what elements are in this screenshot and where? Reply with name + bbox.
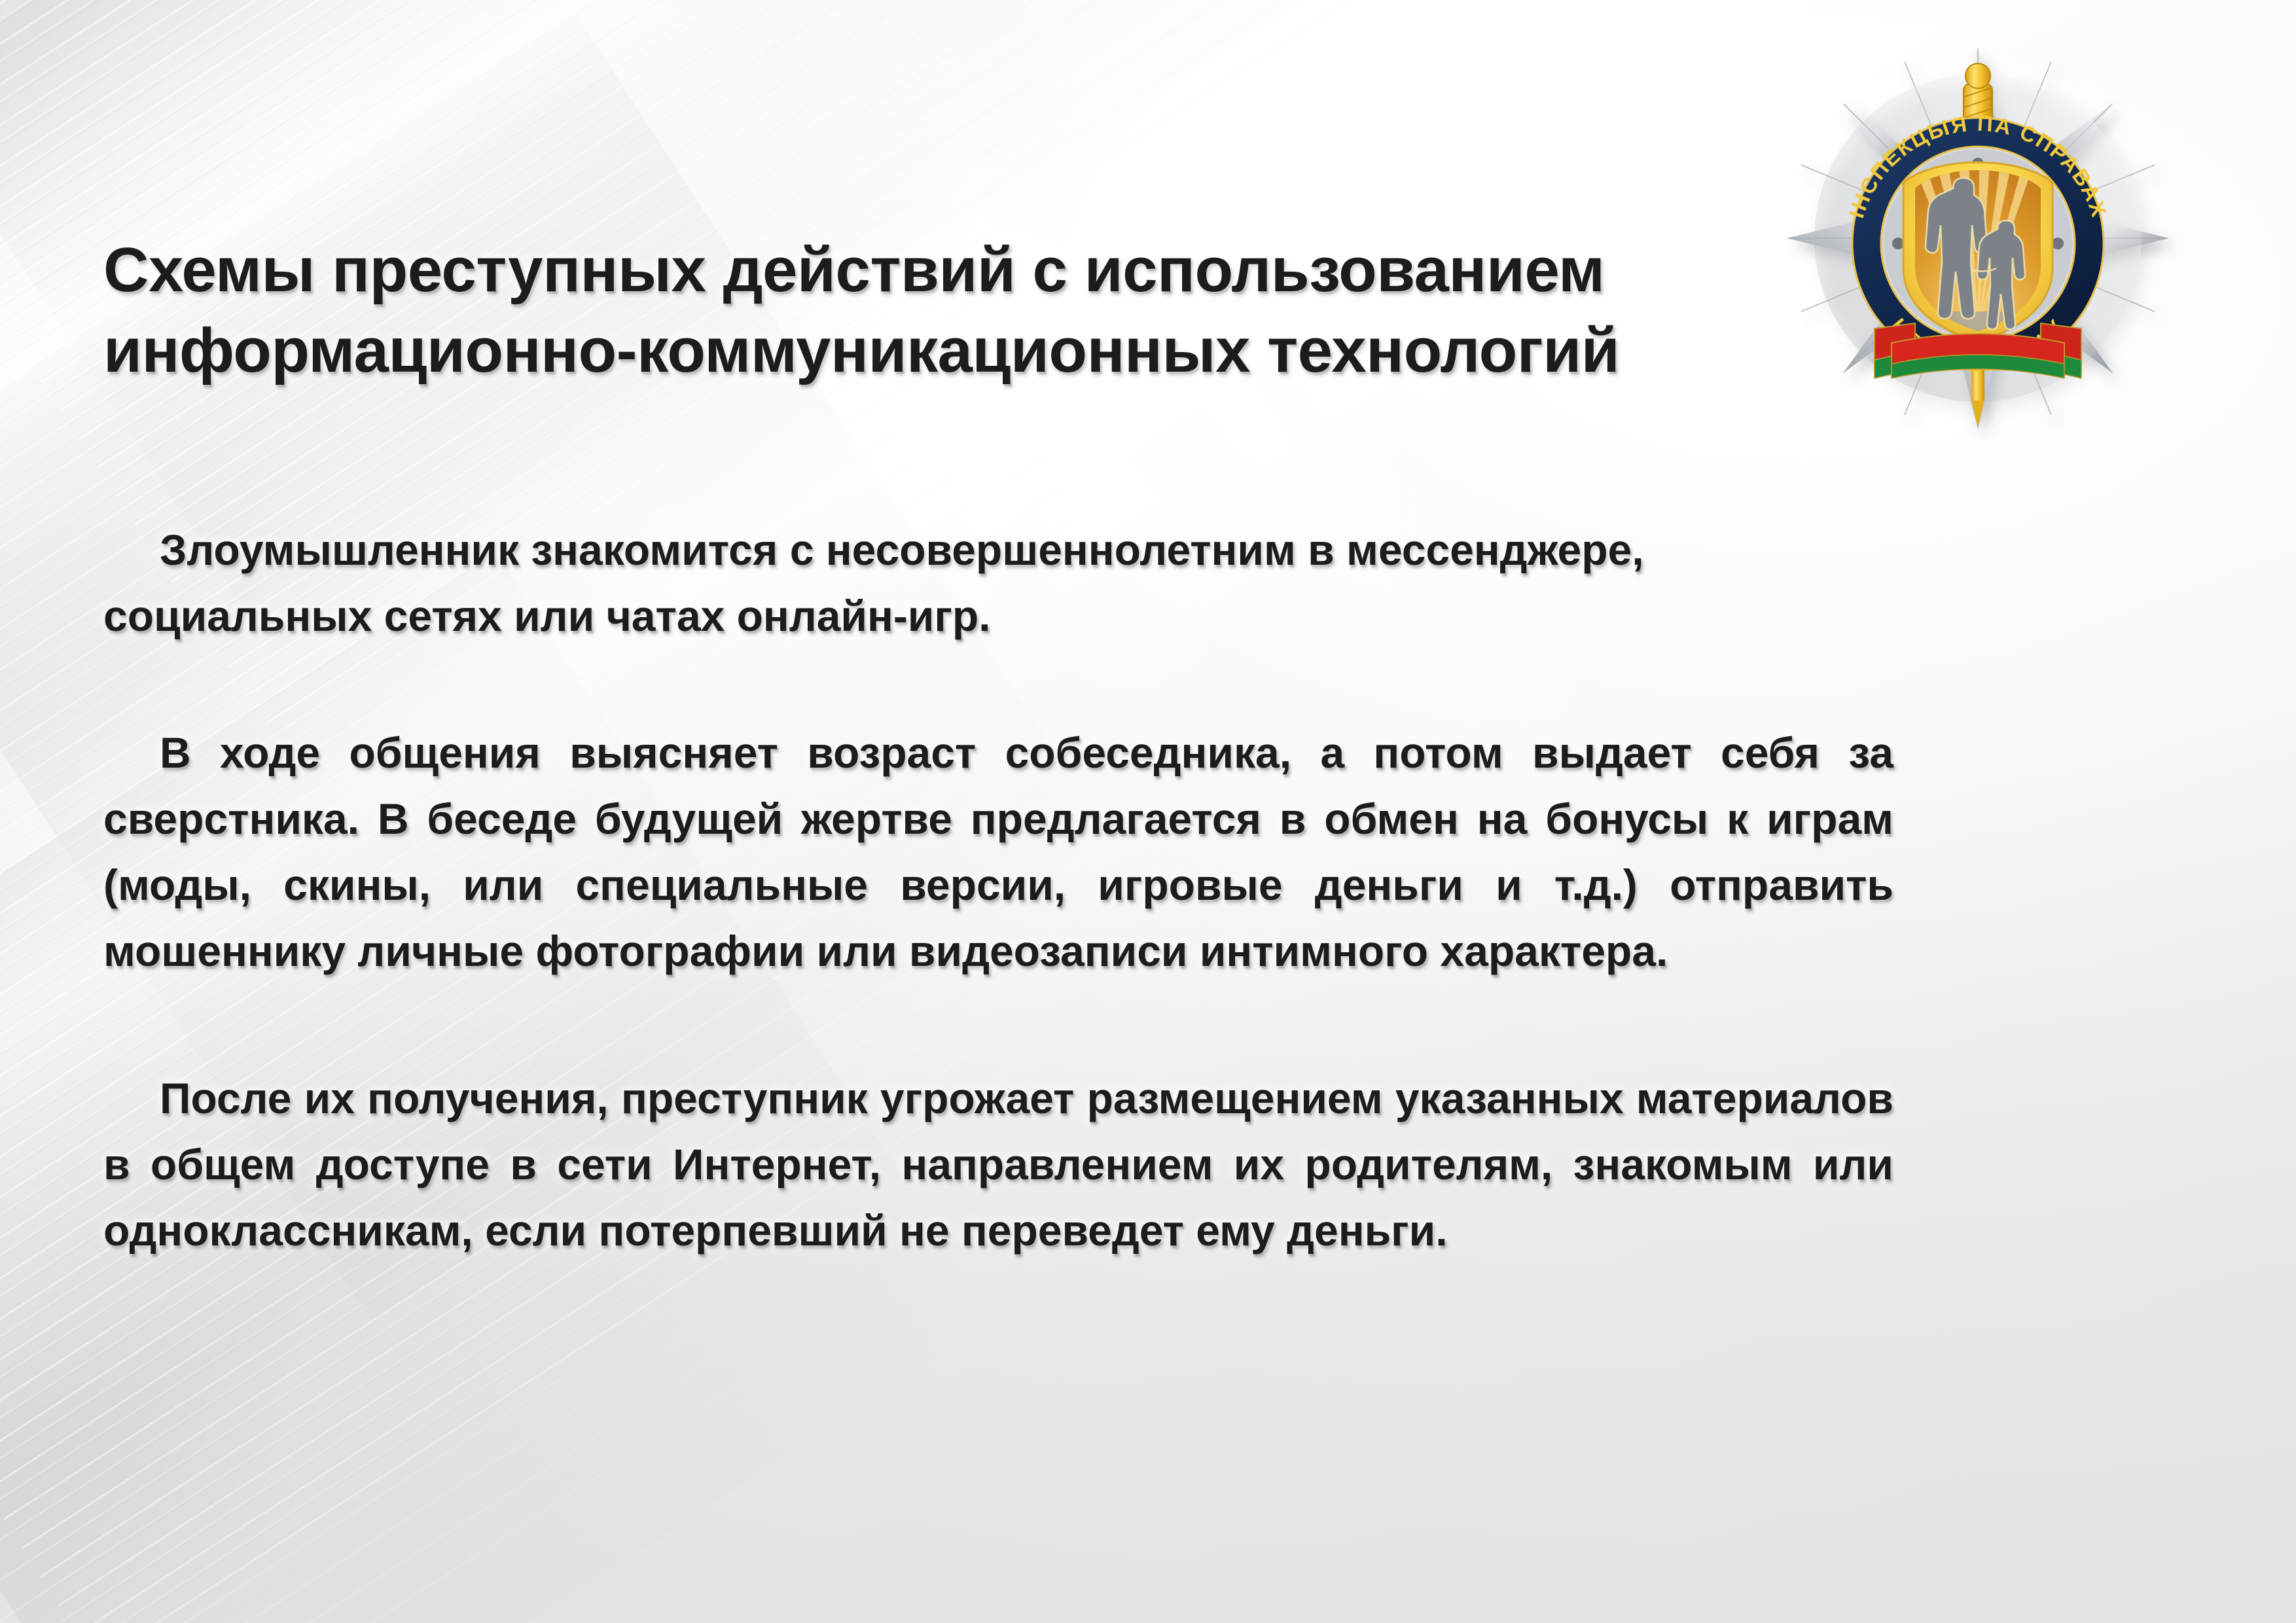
- paragraph-1-text: Злоумышленник знакомится с несовершеннол…: [103, 526, 1644, 640]
- presentation-slide: Схемы преступных действий с использовани…: [0, 0, 2296, 1623]
- shield-with-figures: [1903, 162, 2053, 342]
- inspection-for-minors-affairs-emblem: ІНСПЕКЦЫЯ ПА СПРАВАХ НЕПАЎНАЛЕТНІХ: [1775, 34, 2181, 440]
- paragraph-3: После их получения, преступник угрожает …: [103, 1065, 1893, 1264]
- paragraph-3-text: После их получения, преступник угрожает …: [103, 1074, 1893, 1255]
- page-title: Схемы преступных действий с использовани…: [103, 230, 1753, 391]
- body-content: Злоумышленник знакомится с несовершеннол…: [103, 517, 1893, 1264]
- paragraph-2: В ходе общения выясняет возраст собеседн…: [103, 720, 1893, 984]
- paragraph-2-text: В ходе общения выясняет возраст собеседн…: [103, 728, 1893, 975]
- paragraph-1: Злоумышленник знакомится с несовершеннол…: [103, 517, 1893, 649]
